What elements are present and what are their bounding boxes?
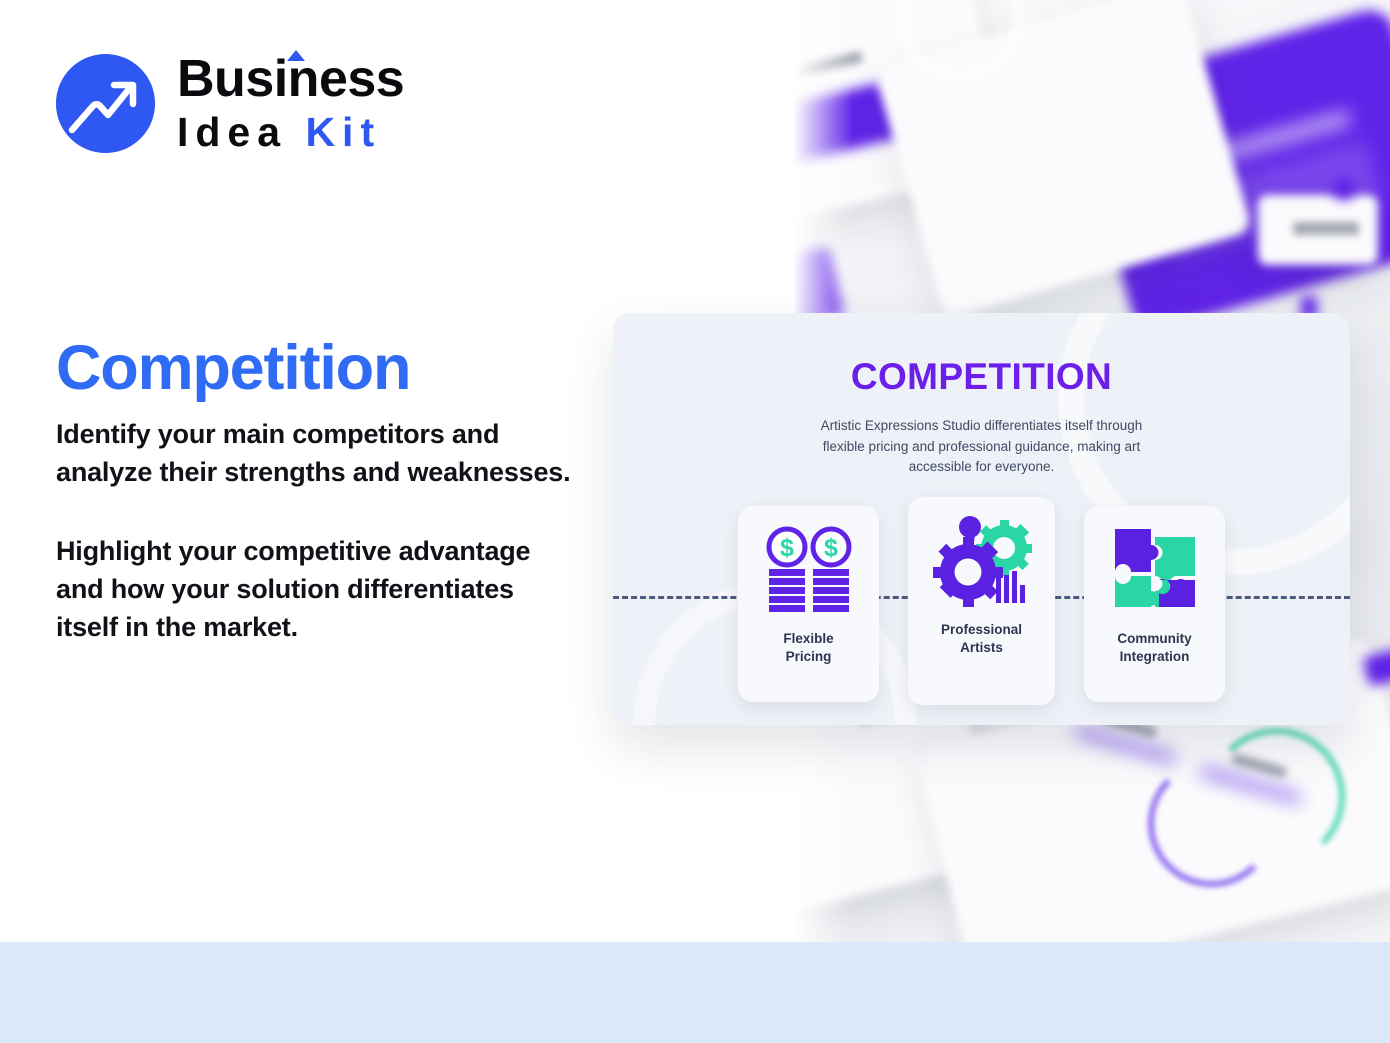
slide-canvas: Business Idea Kit Competition Identify y… bbox=[0, 0, 1390, 1043]
body-paragraph-2: Highlight your competitive advantage and… bbox=[56, 532, 576, 647]
mock-dot-right-1 bbox=[1333, 178, 1355, 200]
gears-lightbulb-chart-icon bbox=[930, 515, 1034, 607]
competition-preview-card: COMPETITION Artistic Expressions Studio … bbox=[613, 313, 1350, 725]
trend-arrow-circle-icon bbox=[56, 54, 155, 153]
brand-word-business: Business bbox=[177, 53, 404, 105]
feature-label: Community Integration bbox=[1117, 630, 1191, 666]
feature-label: Professional Artists bbox=[941, 621, 1022, 657]
page-title: Competition bbox=[56, 335, 410, 401]
feature-row: $ $ bbox=[613, 503, 1350, 705]
svg-text:$: $ bbox=[824, 534, 838, 562]
body-copy: Identify your main competitors and analy… bbox=[56, 415, 576, 647]
bottom-color-band bbox=[0, 942, 1390, 1043]
body-paragraph-1: Identify your main competitors and analy… bbox=[56, 415, 576, 492]
brand-word-idea-kit: Idea Kit bbox=[177, 112, 404, 153]
mock-text-line-2 bbox=[1293, 222, 1359, 235]
card-title: COMPETITION bbox=[613, 356, 1350, 398]
svg-text:$: $ bbox=[780, 534, 794, 562]
feature-label: Flexible Pricing bbox=[783, 630, 833, 666]
brand-logo: Business Idea Kit bbox=[56, 53, 404, 153]
caret-accent-icon bbox=[287, 50, 305, 61]
puzzle-pieces-icon bbox=[1111, 524, 1199, 616]
coin-stacks-icon: $ $ bbox=[761, 524, 857, 616]
brand-wordmark: Business Idea Kit bbox=[177, 53, 404, 153]
feature-card-flexible-pricing[interactable]: $ $ bbox=[738, 506, 879, 702]
feature-card-professional-artists[interactable]: Professional Artists bbox=[908, 497, 1055, 705]
brand-word-kit: Kit bbox=[305, 109, 381, 155]
feature-card-community-integration[interactable]: Community Integration bbox=[1084, 506, 1225, 702]
brand-word-idea: Idea bbox=[177, 109, 305, 155]
card-subtitle: Artistic Expressions Studio differentiat… bbox=[802, 416, 1162, 478]
